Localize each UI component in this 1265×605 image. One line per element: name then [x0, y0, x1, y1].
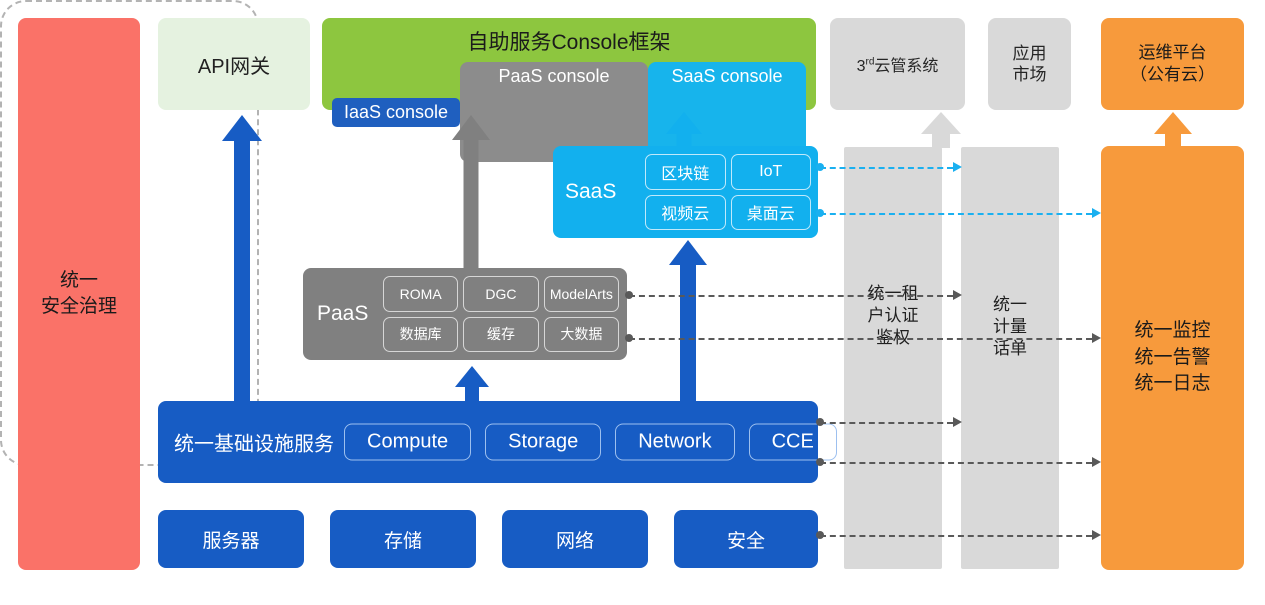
paas-layer-box: PaaS ROMA DGC ModelArts 数据库 缓存 大数据	[303, 268, 627, 360]
arrow-infra-to-saas	[669, 240, 707, 404]
saas-item-desktop-cloud[interactable]: 桌面云	[731, 195, 812, 231]
unified-auth-bar	[844, 147, 942, 569]
dash-saas-to-ops	[820, 213, 1092, 215]
saas-item-iot[interactable]: IoT	[731, 154, 812, 190]
ops-monitor-line-2: 统一告警	[1134, 345, 1210, 372]
dash-saas-to-auth	[820, 167, 953, 169]
ops-platform-line-1: 运维平台	[1130, 42, 1215, 64]
arrow-saas-to-console	[666, 112, 702, 150]
ops-monitoring-text: 统一监控 统一告警 统一日志	[1134, 318, 1210, 398]
dash-arrowhead-paas-auth	[953, 290, 962, 300]
hardware-label-network: 网络	[556, 526, 594, 553]
console-framework-box: 自助服务Console框架 IaaS console PaaS console …	[322, 18, 816, 110]
saas-layer-label: SaaS	[565, 180, 616, 204]
cloud-mgmt-label: 3rd云管系统	[857, 52, 939, 76]
dash-hardware-to-ops	[820, 535, 1092, 537]
hardware-item-security[interactable]: 安全	[674, 510, 818, 568]
dash-infra-to-auth	[820, 422, 953, 424]
paas-item-database[interactable]: 数据库	[383, 317, 458, 353]
hardware-item-network[interactable]: 网络	[502, 510, 648, 568]
unified-metering-label: 统一 计量 话单	[961, 294, 1059, 360]
metering-line-1: 统一	[961, 294, 1059, 316]
hardware-label-storage: 存储	[384, 526, 422, 553]
ops-platform-box: 运维平台 （公有云）	[1101, 18, 1244, 110]
ops-monitor-line-3: 统一日志	[1134, 371, 1210, 398]
dash-infra-to-ops	[820, 462, 1092, 464]
infra-item-network[interactable]: Network	[615, 424, 734, 461]
console-framework-title: 自助服务Console框架	[322, 26, 816, 56]
infrastructure-chip-row: Compute Storage Network CCE	[344, 424, 837, 461]
ops-platform-label: 运维平台 （公有云）	[1130, 42, 1215, 86]
dash-arrowhead-hardware-ops	[1092, 530, 1101, 540]
paas-item-modelarts[interactable]: ModelArts	[544, 276, 619, 312]
ops-monitoring-column: 统一监控 统一告警 统一日志	[1101, 146, 1244, 570]
cloud-mgmt-suffix: 云管系统	[874, 58, 938, 75]
security-line-1: 统一	[41, 268, 117, 294]
paas-item-cache[interactable]: 缓存	[463, 317, 538, 353]
metering-line-3: 话单	[961, 338, 1059, 360]
infrastructure-label: 统一基础设施服务	[174, 428, 334, 457]
arrow-to-third-party-cloud-mgmt	[921, 112, 961, 148]
paas-item-bigdata[interactable]: 大数据	[544, 317, 619, 353]
app-market-line-1: 应用	[1013, 43, 1047, 64]
security-governance-text: 统一 安全治理	[41, 268, 117, 319]
hardware-label-security: 安全	[727, 526, 765, 553]
dash-arrowhead-paas-ops	[1092, 333, 1101, 343]
saas-service-grid: 区块链 IoT 视频云 桌面云	[645, 154, 811, 230]
paas-item-dgc[interactable]: DGC	[463, 276, 538, 312]
dash-paas-to-auth	[629, 295, 953, 297]
architecture-diagram-canvas: 统一 安全治理 API网关 自助服务Console框架 IaaS console…	[0, 0, 1265, 605]
saas-item-blockchain[interactable]: 区块链	[645, 154, 726, 190]
metering-line-2: 计量	[961, 316, 1059, 338]
api-gateway-box: API网关	[158, 18, 310, 110]
dash-arrowhead-saas-auth	[953, 162, 962, 172]
arrow-infra-to-paas	[455, 366, 489, 404]
paas-item-roma[interactable]: ROMA	[383, 276, 458, 312]
app-market-label: 应用 市场	[1013, 43, 1047, 86]
app-market-box: 应用 市场	[988, 18, 1071, 110]
paas-layer-label: PaaS	[317, 302, 368, 326]
infra-item-storage[interactable]: Storage	[485, 424, 601, 461]
arrow-to-ops-platform	[1154, 112, 1192, 148]
app-market-line-2: 市场	[1013, 64, 1047, 85]
saas-layer-box: SaaS 区块链 IoT 视频云 桌面云	[553, 146, 818, 238]
hardware-item-storage[interactable]: 存储	[330, 510, 476, 568]
dash-arrowhead-saas-ops	[1092, 208, 1101, 218]
ops-platform-line-2: （公有云）	[1130, 64, 1215, 86]
third-party-cloud-mgmt-box: 3rd云管系统	[830, 18, 965, 110]
dash-paas-to-ops	[629, 338, 1092, 340]
saas-item-video-cloud[interactable]: 视频云	[645, 195, 726, 231]
hardware-label-server: 服务器	[202, 526, 259, 553]
arrow-paas-to-console	[452, 115, 490, 271]
iaas-console-chip[interactable]: IaaS console	[332, 98, 460, 127]
api-gateway-label: API网关	[198, 50, 270, 79]
infra-item-compute[interactable]: Compute	[344, 424, 471, 461]
paas-service-grid: ROMA DGC ModelArts 数据库 缓存 大数据	[383, 276, 619, 352]
auth-line-2: 户认证	[844, 305, 942, 327]
hardware-item-server[interactable]: 服务器	[158, 510, 304, 568]
dash-arrowhead-infra-ops	[1092, 457, 1101, 467]
security-governance-column: 统一 安全治理	[18, 18, 140, 570]
arrow-infra-to-api-gateway	[222, 115, 262, 403]
security-line-2: 安全治理	[41, 294, 117, 320]
infra-item-cce[interactable]: CCE	[749, 424, 837, 461]
dash-arrowhead-infra-auth	[953, 417, 962, 427]
infrastructure-layer-box: 统一基础设施服务 Compute Storage Network CCE	[158, 401, 818, 483]
ops-monitor-line-1: 统一监控	[1134, 318, 1210, 345]
